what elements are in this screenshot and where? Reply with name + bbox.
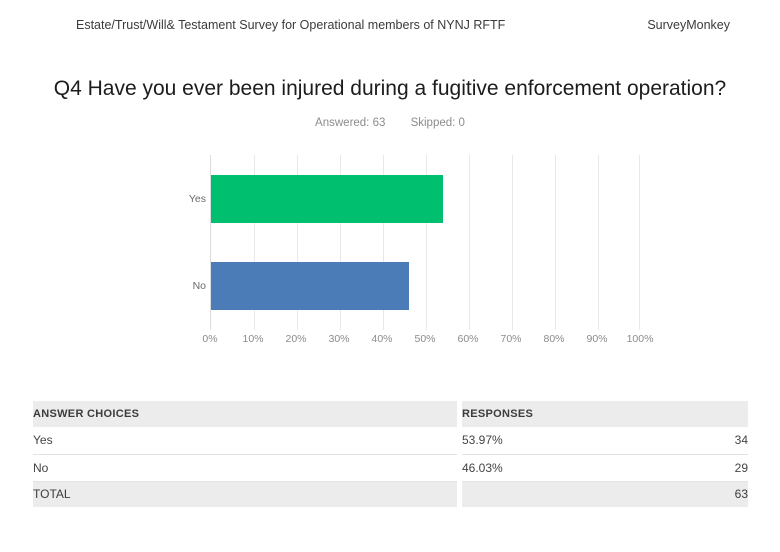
table-header-row: ANSWER CHOICES RESPONSES [33,401,748,427]
table-total-row: TOTAL 63 [33,481,748,507]
cell-response-percent: 46.03% [462,454,672,481]
axis-tick-label: 10% [242,333,263,345]
table-body: Yes53.97%34No46.03%29 [33,427,748,481]
gridline [598,155,599,330]
table-row: Yes53.97%34 [33,427,748,454]
axis-tick-label: 0% [202,333,217,345]
category-label: No [168,280,206,292]
total-percent [462,481,672,507]
cell-response-percent: 53.97% [462,427,672,454]
plot-area [210,155,640,330]
axis-tick-label: 20% [285,333,306,345]
total-count: 63 [672,481,748,507]
gridline [469,155,470,330]
table-row: No46.03%29 [33,454,748,481]
axis-tick-label: 60% [457,333,478,345]
category-axis: YesNo [168,155,206,330]
axis-tick-label: 100% [627,333,654,345]
axis-tick-label: 40% [371,333,392,345]
answered-count: Answered: 63 [315,117,385,129]
results-table: ANSWER CHOICES RESPONSES Yes53.97%34No46… [33,401,748,507]
gridline [555,155,556,330]
cell-answer-choice: No [33,454,457,481]
axis-tick-label: 50% [414,333,435,345]
gridline [512,155,513,330]
axis-tick-label: 90% [586,333,607,345]
skipped-count: Skipped: 0 [411,117,465,129]
cell-response-count: 29 [672,454,748,481]
page-header: Estate/Trust/Will& Testament Survey for … [76,17,762,33]
total-label: TOTAL [33,481,457,507]
header-responses: RESPONSES [462,401,748,427]
surveymonkey-brand: SurveyMonkey [647,17,762,33]
cell-response-count: 34 [672,427,748,454]
category-label: Yes [168,193,206,205]
bar-chart: YesNo 0%10%20%30%40%50%60%70%80%90%100% [168,155,640,355]
header-answer-choices: ANSWER CHOICES [33,401,457,427]
cell-answer-choice: Yes [33,427,457,454]
axis-tick-label: 80% [543,333,564,345]
question-title: Q4 Have you ever been injured during a f… [0,77,780,101]
survey-title: Estate/Trust/Will& Testament Survey for … [76,17,505,33]
axis-tick-label: 70% [500,333,521,345]
question-meta: Answered: 63 Skipped: 0 [0,117,780,129]
bar-no [211,262,409,310]
axis-tick-label: 30% [328,333,349,345]
bar-yes [211,175,443,223]
value-axis: 0%10%20%30%40%50%60%70%80%90%100% [210,333,640,349]
